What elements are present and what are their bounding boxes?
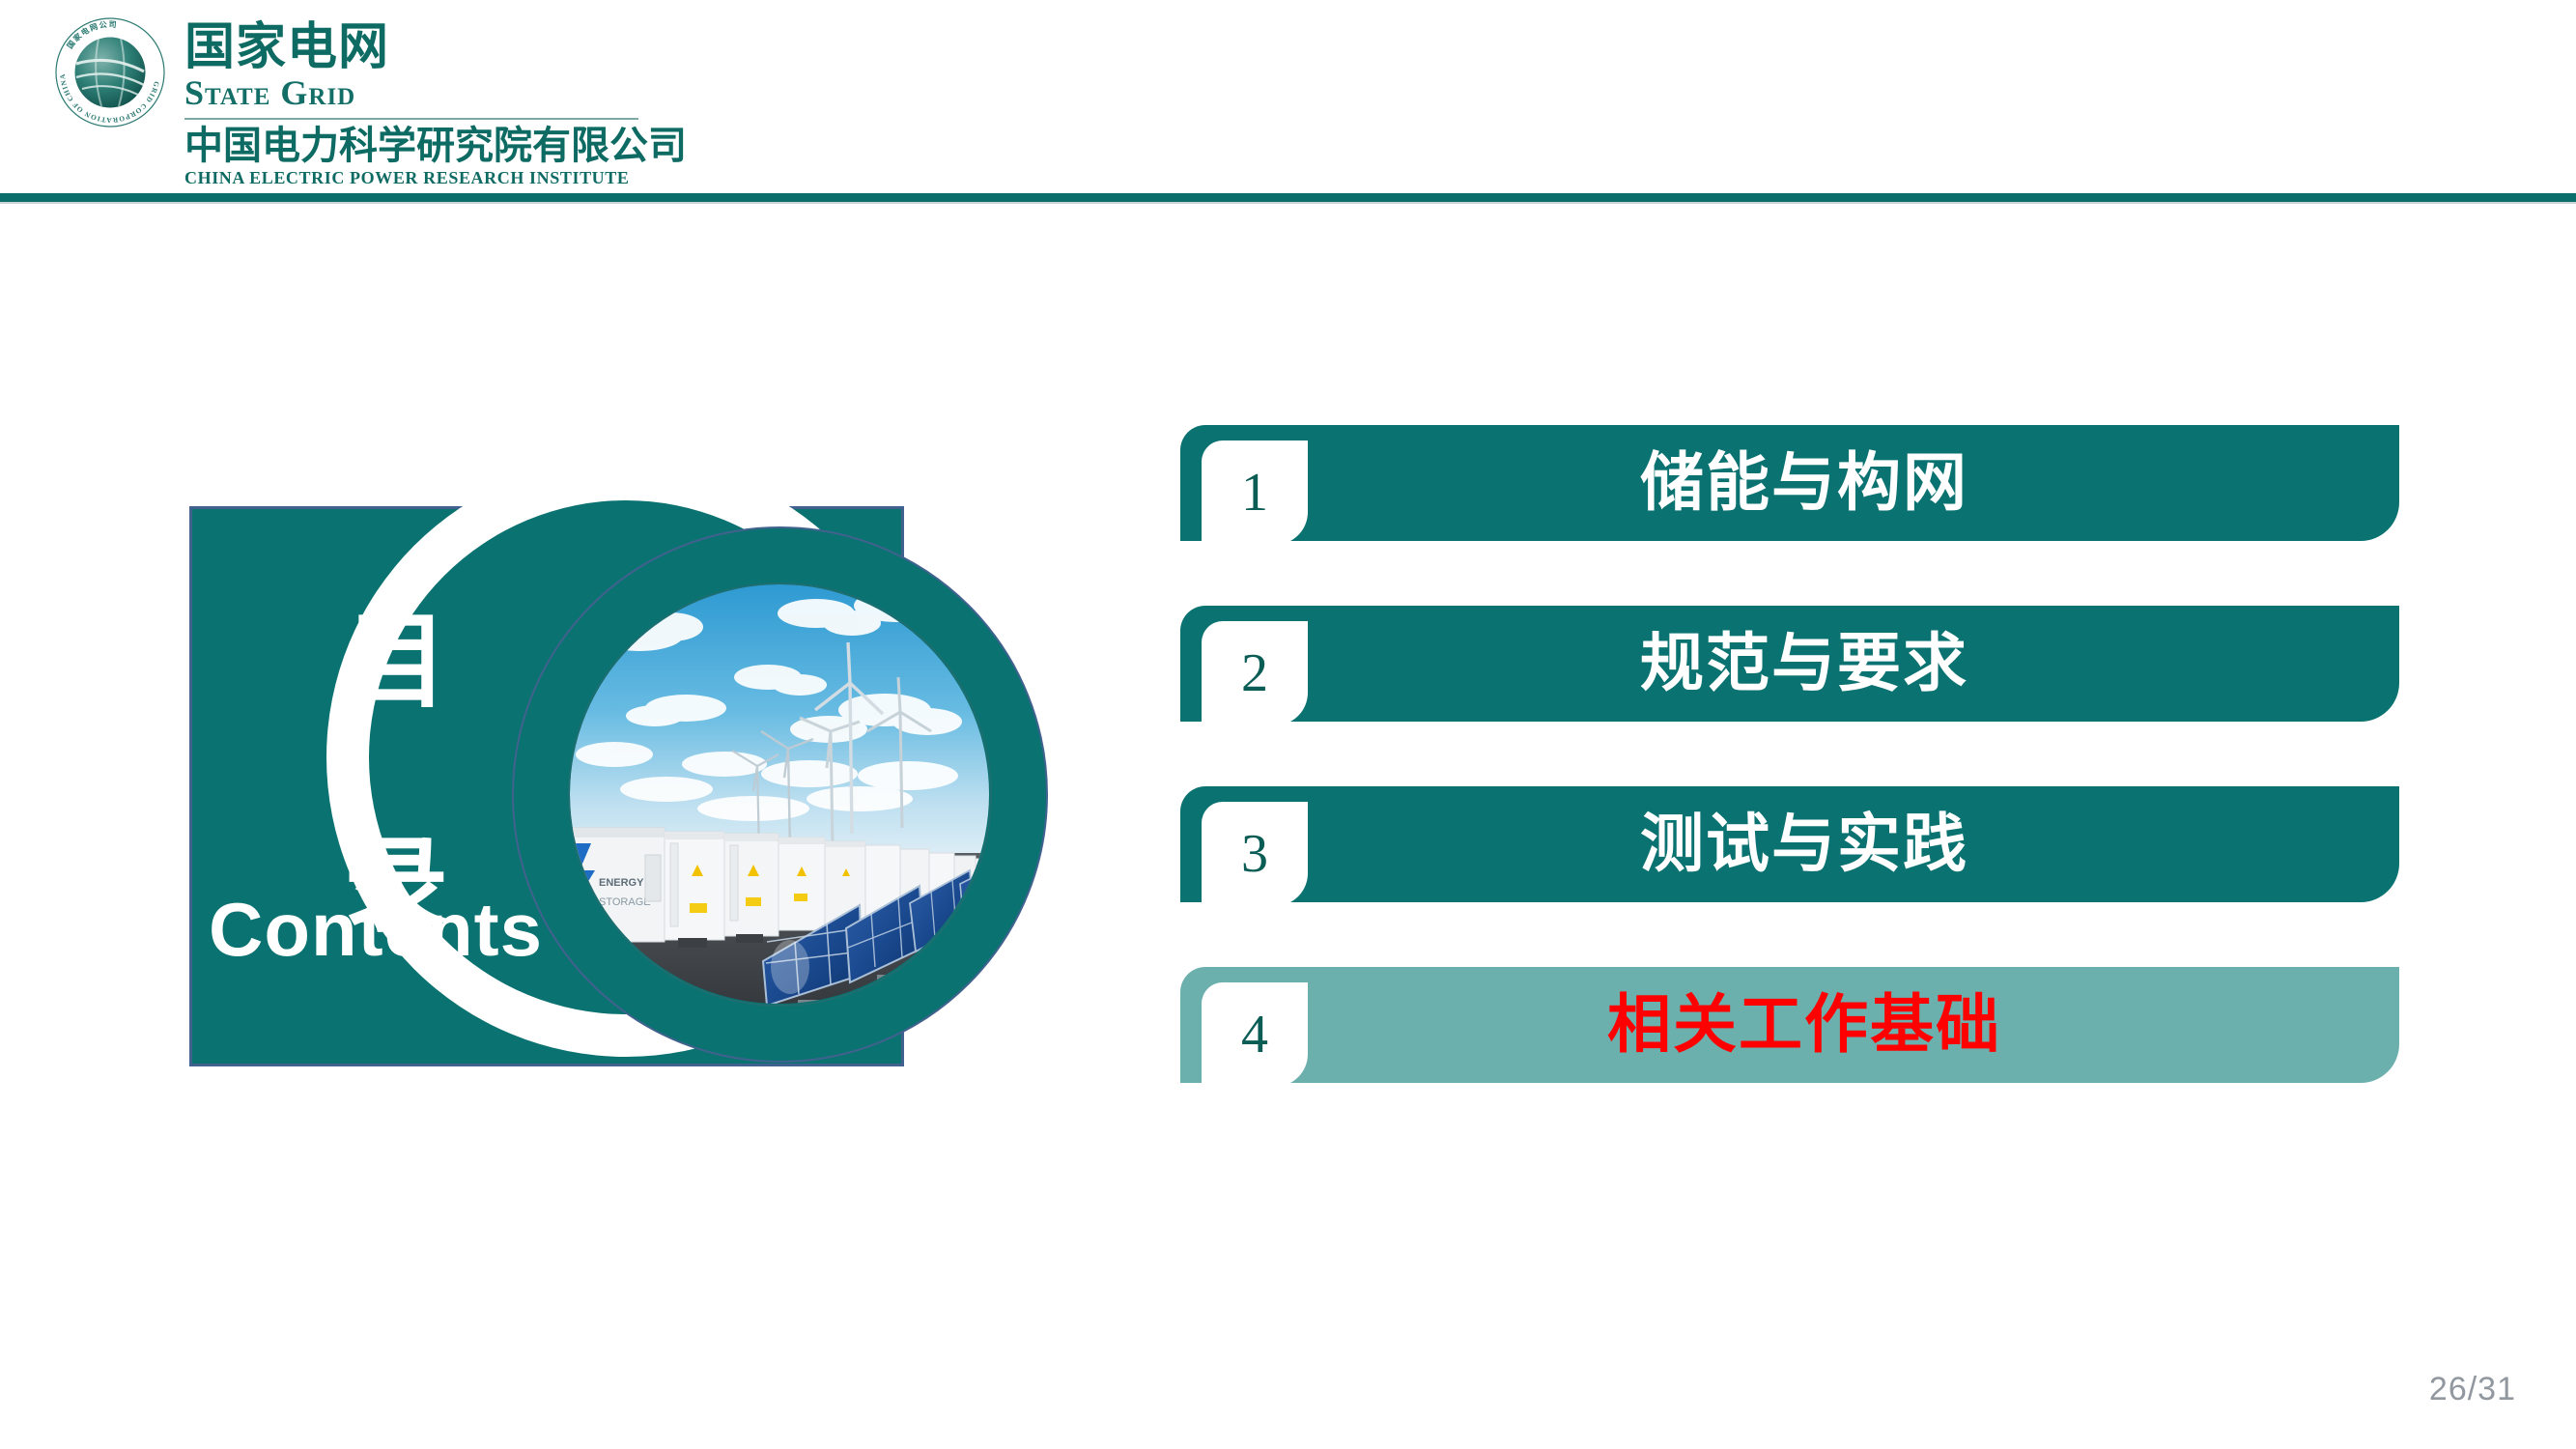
agenda-item-4-active[interactable]: 4 相关工作基础 xyxy=(1180,967,2399,1083)
brand-name-cn: 国家电网 xyxy=(184,21,687,73)
slide-header: GRID CORPORATION OF CHINA 国家电网公司 国家电网 St… xyxy=(0,0,2576,198)
state-grid-logo-block: GRID CORPORATION OF CHINA 国家电网公司 国家电网 St… xyxy=(53,12,687,187)
agenda-item-2-label: 规范与要求 xyxy=(1180,630,2399,697)
logo-divider xyxy=(184,118,638,120)
agenda-menu-list: 1 储能与构网 2 规范与要求 3 测试与实践 4 相关工作基础 xyxy=(1180,425,2399,1083)
contents-photo: ENERGY STORAGE xyxy=(512,526,1048,1063)
agenda-item-3-label: 测试与实践 xyxy=(1180,810,2399,878)
agenda-item-1[interactable]: 1 储能与构网 xyxy=(1180,425,2399,541)
svg-text:STORAGE: STORAGE xyxy=(599,896,651,908)
institute-name-en: CHINA ELECTRIC POWER RESEARCH INSTITUTE xyxy=(184,168,687,187)
state-grid-emblem-icon: GRID CORPORATION OF CHINA 国家电网公司 xyxy=(53,15,167,129)
agenda-item-4-label: 相关工作基础 xyxy=(1180,991,2399,1059)
agenda-item-1-label: 储能与构网 xyxy=(1180,449,2399,517)
header-divider-rule xyxy=(0,191,2576,204)
photo-disc: ENERGY STORAGE xyxy=(568,582,992,1007)
institute-name-cn: 中国电力科学研究院有限公司 xyxy=(184,125,687,167)
brand-name-en: State Grid xyxy=(184,74,687,111)
brand-text-block: 国家电网 State Grid 中国电力科学研究院有限公司 CHINA ELEC… xyxy=(184,12,687,187)
agenda-item-2[interactable]: 2 规范与要求 xyxy=(1180,606,2399,722)
agenda-item-3[interactable]: 3 测试与实践 xyxy=(1180,786,2399,902)
svg-text:ENERGY: ENERGY xyxy=(599,877,644,889)
page-number: 26/31 xyxy=(2429,1371,2516,1408)
